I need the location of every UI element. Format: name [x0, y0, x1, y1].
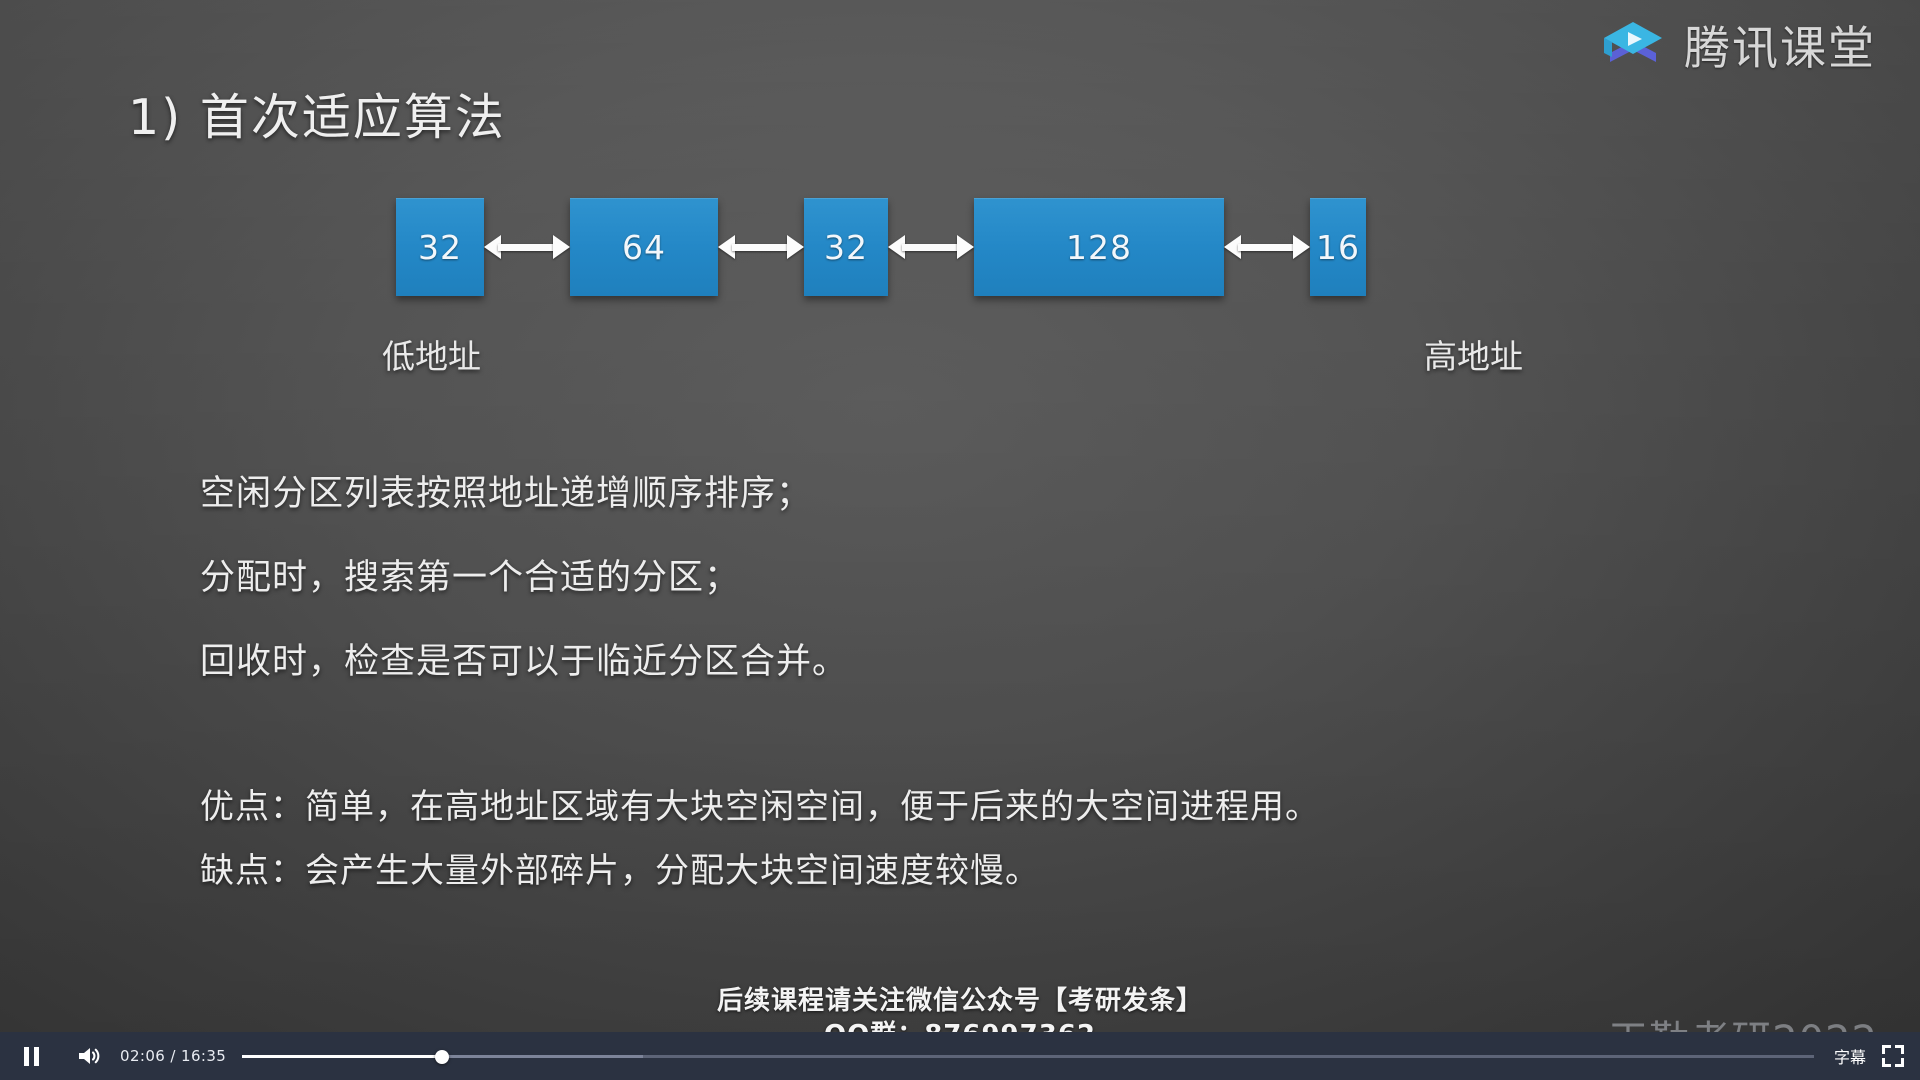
progress-played — [242, 1055, 442, 1058]
progress-bar[interactable] — [242, 1045, 1814, 1067]
volume-on-icon[interactable] — [72, 1039, 106, 1073]
memory-block: 128 — [974, 198, 1224, 296]
double-arrow-icon — [888, 232, 974, 262]
video-player-stage[interactable]: 腾讯课堂 1) 首次适应算法 32 64 32 128 16 低地址 高地址 空… — [0, 0, 1920, 1080]
memory-block: 32 — [804, 198, 888, 296]
pause-icon[interactable] — [14, 1039, 48, 1073]
memory-block: 64 — [570, 198, 718, 296]
subtitles-button[interactable]: 字幕 — [1834, 1044, 1866, 1068]
memory-block: 32 — [396, 198, 484, 296]
high-address-label: 高地址 — [1424, 330, 1523, 378]
memory-partition-diagram: 32 64 32 128 16 — [396, 198, 1366, 296]
double-arrow-icon — [718, 232, 804, 262]
time-display: 02:06 / 16:35 — [120, 1047, 226, 1065]
progress-handle[interactable] — [435, 1050, 449, 1064]
double-arrow-icon — [484, 232, 570, 262]
tencent-classroom-logo: 腾讯课堂 — [1600, 12, 1876, 78]
description-line: 分配时，搜索第一个合适的分区； — [200, 561, 848, 596]
player-control-bar[interactable]: 02:06 / 16:35 字幕 — [0, 1032, 1920, 1080]
double-arrow-icon — [1224, 232, 1310, 262]
description-line: 空闲分区列表按照地址递增顺序排序； — [200, 477, 848, 512]
low-address-label: 低地址 — [382, 330, 481, 378]
pros-cons-summary: 优点：简单，在高地址区域有大块空闲空间，便于后来的大空间进程用。 缺点：会产生大… — [200, 790, 1320, 918]
algorithm-description: 空闲分区列表按照地址递增顺序排序； 分配时，搜索第一个合适的分区； 回收时，检查… — [200, 477, 848, 729]
brand-name: 腾讯课堂 — [1684, 12, 1876, 78]
memory-block: 16 — [1310, 198, 1366, 296]
exit-fullscreen-icon[interactable] — [1882, 1045, 1904, 1067]
disadvantage-line: 缺点：会产生大量外部碎片，分配大块空间速度较慢。 — [200, 854, 1320, 888]
description-line: 回收时，检查是否可以于临近分区合并。 — [200, 645, 848, 680]
slide-title: 1) 首次适应算法 — [128, 78, 506, 149]
promo-line: 后续课程请关注微信公众号【考研发条】 — [0, 985, 1920, 1018]
graduation-cap-play-icon — [1600, 12, 1666, 78]
advantage-line: 优点：简单，在高地址区域有大块空闲空间，便于后来的大空间进程用。 — [200, 790, 1320, 824]
